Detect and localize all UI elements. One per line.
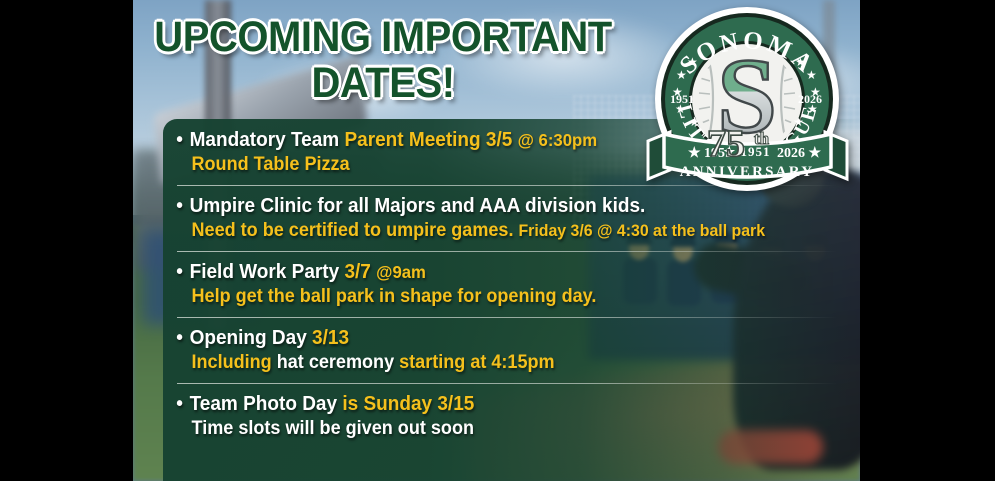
list-item: •Field Work Party 3/7 @9amHelp get the b… <box>163 251 863 317</box>
logo-anniversary-suffix: th <box>754 129 770 148</box>
list-item: •Team Photo Day is Sunday 3/15Time slots… <box>163 383 863 449</box>
bullet-icon: • <box>176 326 189 351</box>
text-segment: at the ball park <box>653 221 765 240</box>
list-item-primary-line: •Opening Day 3/13 <box>163 326 828 351</box>
list-item-secondary-line: Including hat ceremony starting at 4:15p… <box>163 351 828 375</box>
page-title-line-2: DATES! <box>151 60 616 106</box>
list-item-primary-line: •Team Photo Day is Sunday 3/15 <box>163 392 828 417</box>
logo-year-left: 1951 <box>670 92 694 106</box>
bullet-icon: • <box>176 128 189 153</box>
text-segment: Field Work Party <box>190 261 345 283</box>
text-segment: Time slots will be given out soon <box>192 418 474 439</box>
text-segment: Team Photo Day <box>190 393 343 415</box>
svg-text:★: ★ <box>689 115 700 129</box>
slide-banner: UPCOMING IMPORTANT DATES! <box>0 0 995 481</box>
text-segment: Umpire Clinic for all Majors and AAA div… <box>190 195 646 217</box>
text-segment: Need to be certified to umpire games. <box>192 220 519 241</box>
text-segment: is Sunday 3/15 <box>342 393 474 415</box>
list-item-secondary-line: Time slots will be given out soon <box>163 417 828 441</box>
list-item: •Umpire Clinic for all Majors and AAA di… <box>163 185 863 251</box>
bullet-icon: • <box>176 194 189 219</box>
list-item-secondary-line: Need to be certified to umpire games. Fr… <box>163 219 828 243</box>
text-segment: hat ceremony <box>277 352 399 373</box>
svg-text:★: ★ <box>676 68 687 82</box>
text-segment: Mandatory Team <box>190 129 345 151</box>
text-segment: @ 4:30 <box>597 221 653 240</box>
svg-text:★: ★ <box>687 55 698 69</box>
text-segment: 3/13 <box>312 327 349 349</box>
text-segment: starting at 4:15pm <box>399 352 554 373</box>
svg-text:ANNIVERSARY: ANNIVERSARY <box>680 164 815 180</box>
text-segment: Parent Meeting 3/5 <box>344 129 517 151</box>
logo-banner-year-right: 2026 ★ <box>777 145 822 161</box>
text-segment: 3/7 <box>344 261 376 283</box>
svg-text:★: ★ <box>793 115 804 129</box>
list-divider <box>177 383 837 384</box>
page-title: UPCOMING IMPORTANT DATES! <box>133 14 633 106</box>
page-title-line-1: UPCOMING IMPORTANT <box>151 14 616 60</box>
list-item-secondary-line: Help get the ball park in shape for open… <box>163 285 828 309</box>
list-divider <box>177 317 837 318</box>
text-segment: Friday 3/6 <box>518 221 597 240</box>
list-item-primary-line: •Umpire Clinic for all Majors and AAA di… <box>163 194 828 219</box>
bullet-icon: • <box>176 260 189 285</box>
logo-year-right: 2026 <box>798 92 822 106</box>
text-segment: @9am <box>376 262 426 282</box>
text-segment: @ 6:30pm <box>518 130 597 150</box>
list-item: •Opening Day 3/13Including hat ceremony … <box>163 317 863 383</box>
text-segment: Round Table Pizza <box>192 154 350 175</box>
list-item-primary-line: •Field Work Party 3/7 @9am <box>163 260 828 285</box>
text-segment: Help get the ball park in shape for open… <box>192 286 597 307</box>
sonoma-little-league-logo: S SONOMA LITTLE LEAGUE ★★★ ★★ ★★★ ★★ 195… <box>640 4 855 194</box>
svg-text:★: ★ <box>795 55 806 69</box>
bullet-icon: • <box>176 392 189 417</box>
text-segment: Including <box>192 352 277 373</box>
text-segment: Opening Day <box>190 327 312 349</box>
svg-text:★: ★ <box>806 68 817 82</box>
list-divider <box>177 251 837 252</box>
logo-anniversary-number: 75 <box>707 123 745 165</box>
